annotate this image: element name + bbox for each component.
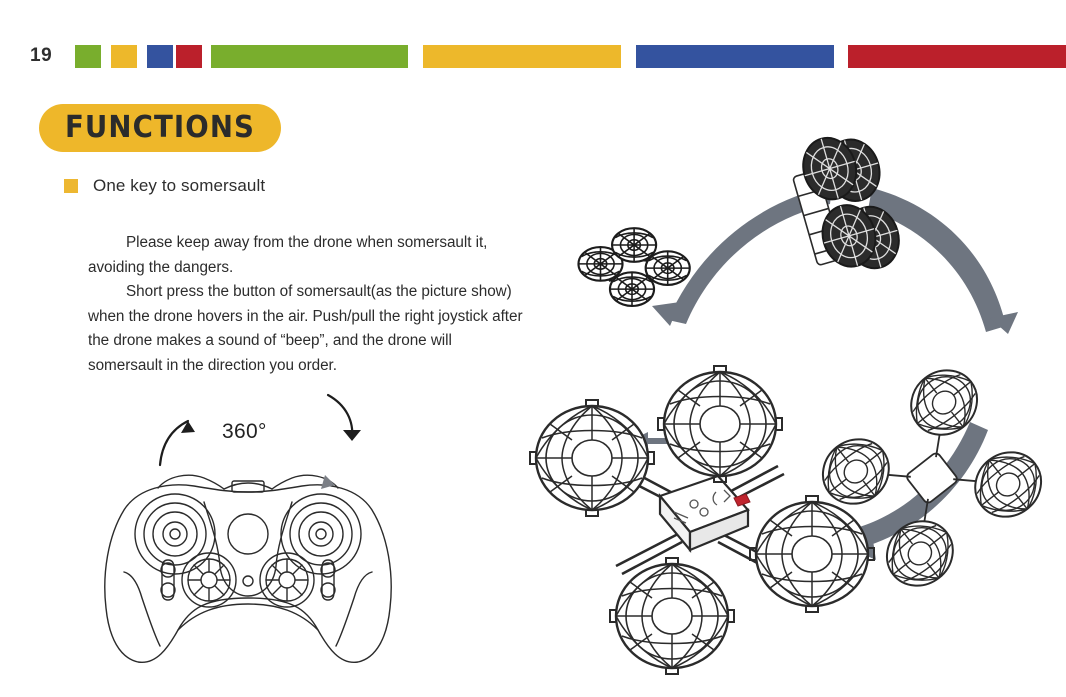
- bullet-square-icon: [64, 179, 78, 193]
- paragraph-warning: Please keep away from the drone when som…: [88, 231, 526, 280]
- swatch-green: [75, 45, 101, 68]
- small-drone-rotor-bottom: [610, 272, 654, 306]
- joystick-left-center: [170, 529, 180, 539]
- side-buttons-left-housing: [162, 560, 174, 600]
- pointer-arrow-shape: [321, 466, 344, 489]
- instruction-text-block: Please keep away from the drone when som…: [88, 231, 526, 379]
- joystick-right-center: [316, 529, 326, 539]
- drone-somersault-sequence: [520, 130, 1066, 690]
- subsection-heading: One key to somersault: [64, 176, 265, 196]
- swatch-red: [176, 45, 202, 68]
- drone-upright-large: [530, 366, 874, 674]
- bar-yellow: [423, 45, 621, 68]
- page-number: 19: [30, 44, 52, 68]
- side-button-left-bottom: [161, 583, 175, 597]
- joystick-left-ring-inner: [153, 512, 197, 556]
- page-header-strip: 19: [0, 0, 1066, 80]
- controller-top-edge: [224, 483, 272, 489]
- bar-blue: [636, 45, 834, 68]
- remote-controller-illustration: [98, 462, 398, 667]
- paragraph-instructions: Short press the button of somersault(as …: [88, 280, 526, 378]
- joystick-right-cap: [309, 522, 333, 546]
- functions-badge-label: FUNCTIONS: [49, 104, 272, 152]
- controller-body-outline: [105, 485, 391, 663]
- side-button-right-bottom: [321, 583, 335, 597]
- small-drone-rotor-top: [612, 228, 656, 262]
- large-drone-rotor-rear-left: [610, 558, 734, 674]
- controller-grip-left-line: [124, 572, 160, 646]
- swatch-yellow: [111, 45, 137, 68]
- bar-green: [211, 45, 408, 68]
- subsection-heading-label: One key to somersault: [93, 176, 265, 196]
- side-button-right-top: [321, 563, 335, 577]
- center-power-button: [228, 514, 268, 554]
- joystick-left-ring-outer: [135, 494, 215, 574]
- rotation-arrow-left-curve: [160, 421, 188, 465]
- side-buttons-right-housing: [322, 560, 334, 600]
- small-drone-rotor-right: [646, 251, 690, 285]
- swatch-blue: [147, 45, 173, 68]
- bar-red: [848, 45, 1066, 68]
- somersault-button-pointer-arrow: [318, 464, 348, 492]
- controller-shoulder-left: [158, 475, 224, 489]
- controller-grip-right-line: [336, 572, 372, 646]
- large-drone-rotor-front-left: [530, 400, 654, 516]
- large-drone-rotor-front-right: [658, 366, 782, 482]
- side-button-left-top: [161, 563, 175, 577]
- large-drone-rotor-rear-right: [750, 496, 874, 612]
- rotation-arrow-right-head: [343, 430, 361, 441]
- rotation-arrows-group: [150, 395, 370, 465]
- functions-section-badge: FUNCTIONS: [39, 104, 281, 152]
- status-led-indicator: [243, 576, 253, 586]
- joystick-right-ring-inner: [299, 512, 343, 556]
- drone-hovering-small: [578, 228, 689, 306]
- joystick-left-cap: [163, 522, 187, 546]
- joystick-right-ring-outer: [281, 494, 361, 574]
